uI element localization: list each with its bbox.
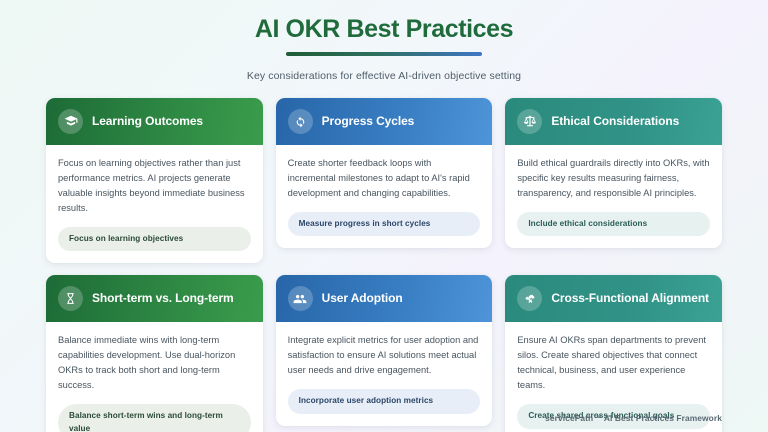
graduation-cap-icon [58,109,83,134]
card-action-pill[interactable]: Focus on learning objectives [58,227,251,251]
card-body: Integrate explicit metrics for user adop… [276,322,493,425]
card-body: Balance immediate wins with long-term ca… [46,322,263,432]
page-title: AI OKR Best Practices [46,14,722,45]
card-title: Learning Outcomes [92,114,203,129]
practice-card-ethical-considerations[interactable]: Ethical Considerations Build ethical gua… [505,98,722,248]
card-title: Progress Cycles [322,114,415,129]
card-action-pill[interactable]: Measure progress in short cycles [288,212,481,236]
card-title: Ethical Considerations [551,114,679,129]
card-title: User Adoption [322,291,403,306]
card-body: Focus on learning objectives rather than… [46,145,263,263]
card-header: Progress Cycles [276,98,493,145]
card-description: Build ethical guardrails directly into O… [517,156,710,201]
practice-card-progress-cycles[interactable]: Progress Cycles Create shorter feedback … [276,98,493,248]
users-group-icon [288,286,313,311]
practice-card-short-term-vs-long-term[interactable]: Short-term vs. Long-term Balance immedia… [46,275,263,432]
card-description: Balance immediate wins with long-term ca… [58,333,251,393]
practice-card-learning-outcomes[interactable]: Learning Outcomes Focus on learning obje… [46,98,263,263]
card-header: User Adoption [276,275,493,322]
card-header: Short-term vs. Long-term [46,275,263,322]
page-subtitle: Key considerations for effective AI-driv… [46,70,722,82]
slide-root: AI OKR Best Practices Key considerations… [0,0,768,432]
card-action-pill[interactable]: Include ethical considerations [517,212,710,236]
handshake-icon [517,286,542,311]
card-header: Ethical Considerations [505,98,722,145]
hourglass-icon [58,286,83,311]
practice-card-cross-functional-alignment[interactable]: Cross-Functional Alignment Ensure AI OKR… [505,275,722,432]
card-description: Focus on learning objectives rather than… [58,156,251,216]
title-divider [286,52,482,56]
card-description: Integrate explicit metrics for user adop… [288,333,481,378]
practice-card-user-adoption[interactable]: User Adoption Integrate explicit metrics… [276,275,493,425]
card-title: Short-term vs. Long-term [92,291,234,306]
card-header: Learning Outcomes [46,98,263,145]
card-header: Cross-Functional Alignment [505,275,722,322]
balance-scales-icon [517,109,542,134]
practices-grid: Learning Outcomes Focus on learning obje… [46,98,722,432]
footer-attribution: servicePath™ AI Best Practices Framework [545,413,722,423]
card-body: Build ethical guardrails directly into O… [505,145,722,248]
card-description: Create shorter feedback loops with incre… [288,156,481,201]
slide-header: AI OKR Best Practices Key considerations… [46,14,722,82]
card-action-pill[interactable]: Balance short-term wins and long-term va… [58,404,251,432]
refresh-cycle-icon [288,109,313,134]
card-title: Cross-Functional Alignment [551,291,709,306]
card-description: Ensure AI OKRs span departments to preve… [517,333,710,393]
card-action-pill[interactable]: Incorporate user adoption metrics [288,389,481,413]
card-body: Create shorter feedback loops with incre… [276,145,493,248]
